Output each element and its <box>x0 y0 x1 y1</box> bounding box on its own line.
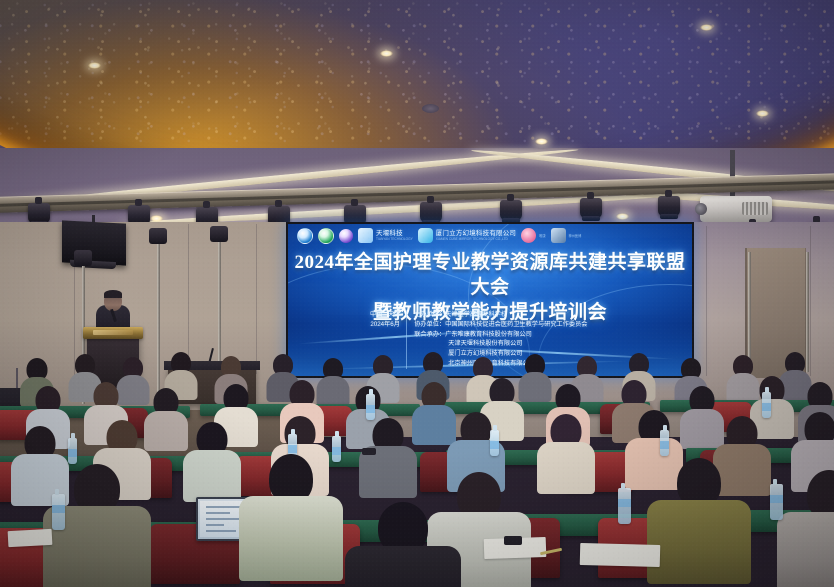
person-body <box>345 546 461 587</box>
organizer-line-company-1: 天津天堰科技股份有限公司 <box>414 339 694 349</box>
weikang-sublabel: 唯康 <box>539 234 545 238</box>
shenzhouyibo-sublabel: 神州医博 <box>569 234 582 238</box>
downlight <box>535 138 548 145</box>
laptop-screen-line <box>206 512 230 514</box>
hanging-loudspeaker <box>62 220 126 265</box>
bottle-label <box>762 403 771 411</box>
sponsor-logo-weikang: 唯康 <box>521 228 545 243</box>
bottle-label <box>52 505 65 513</box>
audience-member-foreground <box>358 502 448 587</box>
person-body <box>144 411 188 451</box>
sponsor-logo-circle-2-icon <box>318 228 334 244</box>
event-location: 中国 · 天津 <box>370 310 400 320</box>
downlight <box>150 215 163 222</box>
water-bottle[interactable] <box>332 436 341 462</box>
bottle-label <box>660 441 669 449</box>
audience-member-foreground <box>660 458 738 576</box>
person-body <box>537 442 595 494</box>
weikang-mark-icon <box>521 228 536 243</box>
laptop-screen-line <box>206 524 224 526</box>
presenter-hair <box>104 290 122 298</box>
conference-hall-photo: 天堰科技 TIANYAN TECHNOLOGY 厦门立方幻境科技有限公司 XIA… <box>0 0 834 587</box>
lifanghuanjing-label: 厦门立方幻境科技有限公司 <box>436 230 516 237</box>
audience-member <box>520 354 550 398</box>
laptop-screen-line <box>206 530 236 532</box>
sponsor-logo-circle-1-icon <box>297 228 313 244</box>
conference-title-line1: 2024年全国护理专业教学资源库共建共享联盟大会 <box>288 250 692 300</box>
sponsor-logo-bar: 天堰科技 TIANYAN TECHNOLOGY 厦门立方幻境科技有限公司 XIA… <box>288 227 692 244</box>
downlight <box>88 62 101 69</box>
bottle-label <box>332 447 341 455</box>
audience-member-foreground <box>252 454 330 574</box>
water-bottle[interactable] <box>366 394 375 420</box>
downlight <box>380 50 393 57</box>
event-date: 2024年6月 <box>370 320 400 330</box>
bottle-label <box>490 441 499 449</box>
stand-light-head <box>149 228 167 244</box>
projector-mount <box>730 150 735 200</box>
audience-member <box>146 388 186 446</box>
water-bottle[interactable] <box>52 494 65 530</box>
mobile-phone[interactable] <box>504 536 522 545</box>
organizer-line-coorganizer: 协办单位：中国国际科技促进会医药卫生教学与研究工作委员会 <box>414 320 694 330</box>
bottle-label <box>770 495 783 503</box>
person-body <box>777 512 834 587</box>
bottle-label <box>618 499 631 507</box>
stage-light <box>28 203 50 223</box>
water-bottle[interactable] <box>770 484 783 520</box>
laptop-screen-line <box>206 506 240 508</box>
water-bottle[interactable] <box>490 430 499 456</box>
audience-member <box>414 382 454 440</box>
stage-light <box>420 202 442 222</box>
seated-audience <box>0 352 834 587</box>
sponsor-logo-tianyan: 天堰科技 TIANYAN TECHNOLOGY <box>358 228 413 243</box>
sponsor-logo-circle-3-icon <box>339 229 353 243</box>
person-body <box>239 496 343 581</box>
audience-member-foreground <box>56 464 138 584</box>
ceiling-projector <box>700 196 772 222</box>
water-bottle[interactable] <box>762 392 771 418</box>
shenzhouyibo-mark-icon <box>551 228 566 243</box>
downlight <box>756 110 769 117</box>
tianyan-sublabel: TIANYAN TECHNOLOGY <box>376 237 413 241</box>
tianyan-label: 天堰科技 <box>376 230 413 237</box>
audience-member <box>318 358 348 402</box>
lectern-nameplate <box>83 327 143 339</box>
audience-member <box>540 414 592 488</box>
stage-light <box>500 200 522 220</box>
stage-light <box>580 198 602 218</box>
tianyan-mark-icon <box>358 228 373 243</box>
organizer-line-host: 主办单位：天津医学高等专科学校 <box>414 310 694 320</box>
bottle-label <box>366 405 375 413</box>
projector-lens-icon <box>695 203 707 215</box>
water-bottle[interactable] <box>660 430 669 456</box>
mobile-phone[interactable] <box>362 448 376 455</box>
organizer-line-cohost: 联合承办：广东唯康教育科技股份有限公司 <box>414 330 694 340</box>
lifanghuanjing-mark-icon <box>418 228 433 243</box>
downlight <box>616 213 629 220</box>
person-body <box>183 450 241 502</box>
water-bottle[interactable] <box>68 438 77 464</box>
ceiling-vent <box>422 104 439 113</box>
projector-vent <box>742 202 768 215</box>
bottle-label <box>68 449 77 457</box>
lifanghuanjing-sublabel: XIAMEN CUBE MIRROR TECHNOLOGY CO.,LTD <box>436 237 516 241</box>
handout-paper[interactable] <box>580 543 661 567</box>
sponsor-logo-lifanghuanjing: 厦门立方幻境科技有限公司 XIAMEN CUBE MIRROR TECHNOLO… <box>418 228 516 243</box>
audience-member-foreground <box>790 470 834 587</box>
stage-light <box>658 196 680 216</box>
person-body <box>647 500 751 584</box>
water-bottle[interactable] <box>618 488 631 524</box>
audience-member <box>362 418 414 492</box>
bottle-label <box>288 445 297 453</box>
audience-member <box>186 422 238 496</box>
person-body <box>519 372 552 402</box>
downlight <box>700 24 713 31</box>
handout-paper[interactable] <box>8 529 53 547</box>
stand-light-head <box>210 226 228 242</box>
sponsor-logo-shenzhouyibo: 神州医博 <box>551 228 582 243</box>
stand-light-head <box>74 250 92 266</box>
